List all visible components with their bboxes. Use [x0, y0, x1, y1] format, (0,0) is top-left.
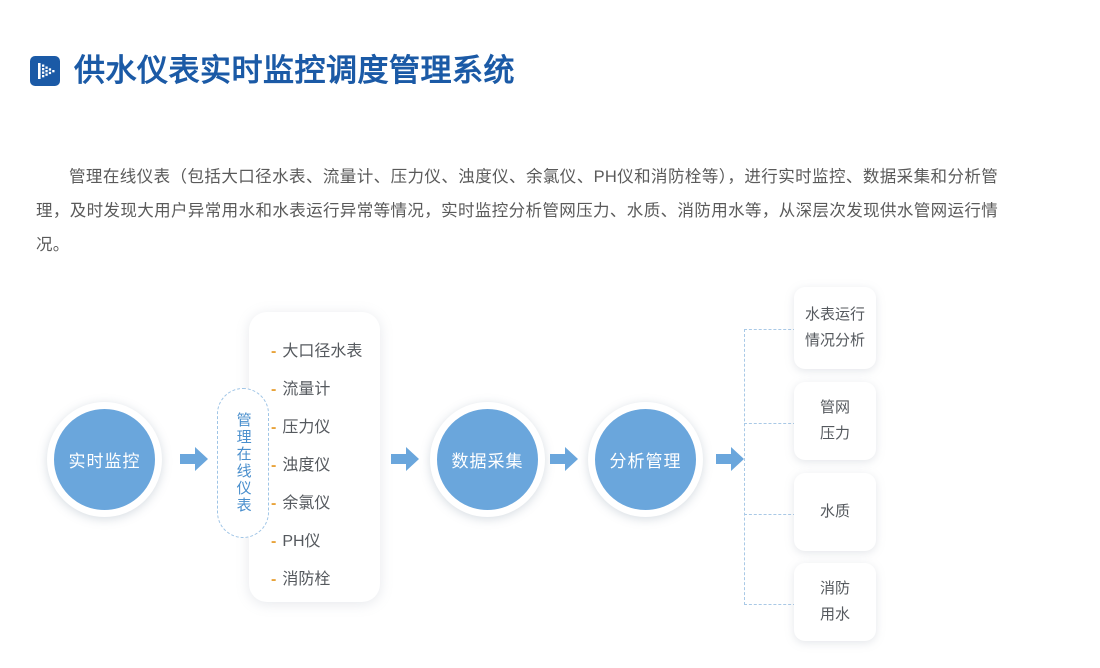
bullet-dash-icon: -: [271, 344, 276, 360]
output-bracket: [744, 329, 796, 605]
list-item-label: 余氯仪: [282, 489, 330, 513]
page-title: 供水仪表实时监控调度管理系统: [74, 55, 515, 86]
arrow-analysis-to-outputs: [716, 446, 744, 472]
node-label: 实时监控: [69, 447, 141, 472]
output-bracket-branch: [744, 423, 796, 424]
instrument-group-label: 管理在线仪表: [234, 412, 251, 514]
process-flow-diagram: 实时监控 - 大口径水表 - 流量计 - 压力仪 - 浊度仪 - 余氯仪 - P…: [0, 265, 1100, 665]
list-item-label: PH仪: [282, 527, 320, 551]
list-item-label: 大口径水表: [282, 337, 362, 361]
output-box-line1: 水表运行: [805, 302, 865, 328]
list-item-label: 流量计: [282, 375, 330, 399]
bullet-dash-icon: -: [271, 534, 276, 550]
output-box-line1: 消防: [820, 576, 850, 602]
bullet-dash-icon: -: [271, 420, 276, 436]
arrow-collection-to-analysis: [550, 446, 578, 472]
list-item: - 大口径水表: [271, 337, 401, 375]
instrument-group-pill: 管理在线仪表: [217, 388, 269, 538]
node-label: 分析管理: [610, 447, 682, 472]
output-box-meter-operation-analysis[interactable]: 水表运行 情况分析: [794, 287, 876, 369]
output-bracket-branch: [744, 514, 796, 515]
output-box-line2: 压力: [820, 421, 850, 447]
play-triangle-icon: [30, 56, 60, 86]
node-realtime-monitor[interactable]: 实时监控: [47, 402, 162, 517]
bullet-dash-icon: -: [271, 458, 276, 474]
output-box-fire-water-usage[interactable]: 消防 用水: [794, 563, 876, 641]
list-item-label: 消防栓: [282, 565, 330, 589]
output-box-line2: 用水: [820, 602, 850, 628]
page-header: 供水仪表实时监控调度管理系统: [30, 55, 515, 86]
list-item: - 消防栓: [271, 565, 401, 603]
list-item: - 浊度仪: [271, 451, 401, 489]
output-box-line1: 管网: [820, 395, 850, 421]
list-item-label: 浊度仪: [282, 451, 330, 475]
node-analysis-management[interactable]: 分析管理: [588, 402, 703, 517]
node-label: 数据采集: [452, 447, 524, 472]
node-data-collection[interactable]: 数据采集: [430, 402, 545, 517]
list-item-label: 压力仪: [282, 413, 330, 437]
list-item: - 流量计: [271, 375, 401, 413]
list-item: - PH仪: [271, 527, 401, 565]
output-box-line1: 水质: [820, 499, 850, 525]
bullet-dash-icon: -: [271, 496, 276, 512]
arrow-monitor-to-instruments: [180, 446, 208, 472]
list-item: - 余氯仪: [271, 489, 401, 527]
bullet-dash-icon: -: [271, 572, 276, 588]
output-box-water-quality[interactable]: 水质: [794, 473, 876, 551]
intro-paragraph: 管理在线仪表（包括大口径水表、流量计、压力仪、浊度仪、余氯仪、PH仪和消防栓等）…: [36, 160, 998, 262]
instrument-list: - 大口径水表 - 流量计 - 压力仪 - 浊度仪 - 余氯仪 - PH仪 - …: [271, 337, 401, 603]
list-item: - 压力仪: [271, 413, 401, 451]
output-box-line2: 情况分析: [805, 328, 865, 354]
bullet-dash-icon: -: [271, 382, 276, 398]
output-box-pipe-network-pressure[interactable]: 管网 压力: [794, 382, 876, 460]
arrow-instruments-to-collection: [391, 446, 419, 472]
